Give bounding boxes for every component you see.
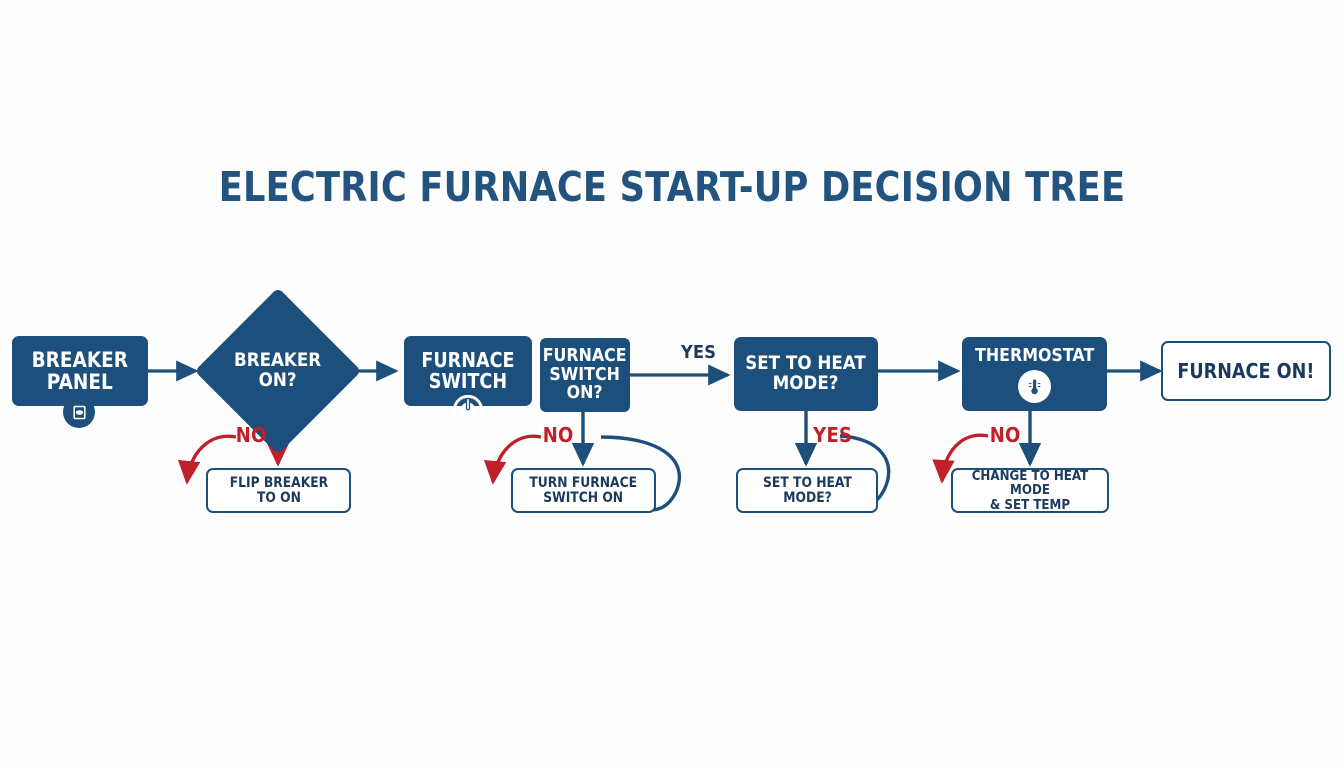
edge-label-breaker-no: NO (236, 423, 267, 447)
node-set-to-heat-mode-label: SET TO HEAT MODE? (746, 354, 867, 394)
node-set-to-heat-mode-action-label: SET TO HEAT MODE? (763, 476, 852, 505)
node-set-to-heat-mode-action[interactable]: SET TO HEAT MODE? (736, 468, 878, 513)
node-change-to-heat-mode-label: CHANGE TO HEAT MODE & SET TEMP (962, 469, 1098, 512)
node-flip-breaker-label: FLIP BREAKER TO ON (229, 476, 327, 505)
node-flip-breaker[interactable]: FLIP BREAKER TO ON (206, 468, 351, 513)
breaker-panel-icon (63, 396, 95, 428)
node-set-to-heat-mode[interactable]: SET TO HEAT MODE? (734, 337, 878, 411)
edge-label-thermostat-no: NO (990, 423, 1021, 447)
flow-connectors (0, 0, 1344, 768)
node-furnace-on-label: FURNACE ON! (1177, 361, 1314, 382)
edge-label-furnace-switch-yes: YES (681, 342, 716, 363)
node-furnace-on[interactable]: FURNACE ON! (1161, 341, 1331, 401)
edge-label-heat-mode-yes: YES (813, 423, 852, 447)
node-breaker-on-label: BREAKER ON? (234, 351, 321, 391)
node-furnace-switch-label: FURNACE SWITCH (421, 350, 514, 392)
node-turn-furnace-switch-on-label: TURN FURNACE SWITCH ON (530, 476, 638, 505)
diagram-canvas: ELECTRIC FURNACE START-UP DECISION TREE (0, 0, 1344, 768)
node-breaker-panel-label: BREAKER PANEL (32, 349, 128, 393)
node-turn-furnace-switch-on[interactable]: TURN FURNACE SWITCH ON (511, 468, 656, 513)
node-thermostat-label: THERMOSTAT (975, 347, 1094, 366)
power-icon (452, 394, 484, 431)
node-furnace-switch-on-label: FURNACE SWITCH ON? (543, 347, 627, 404)
node-breaker-on[interactable]: BREAKER ON? (219, 312, 337, 430)
node-change-to-heat-mode[interactable]: CHANGE TO HEAT MODE & SET TEMP (951, 468, 1109, 513)
node-furnace-switch-on[interactable]: FURNACE SWITCH ON? (540, 338, 630, 412)
page-title: ELECTRIC FURNACE START-UP DECISION TREE (94, 163, 1250, 211)
thermometer-icon (1018, 370, 1051, 403)
edge-label-furnace-switch-no: NO (543, 423, 574, 447)
